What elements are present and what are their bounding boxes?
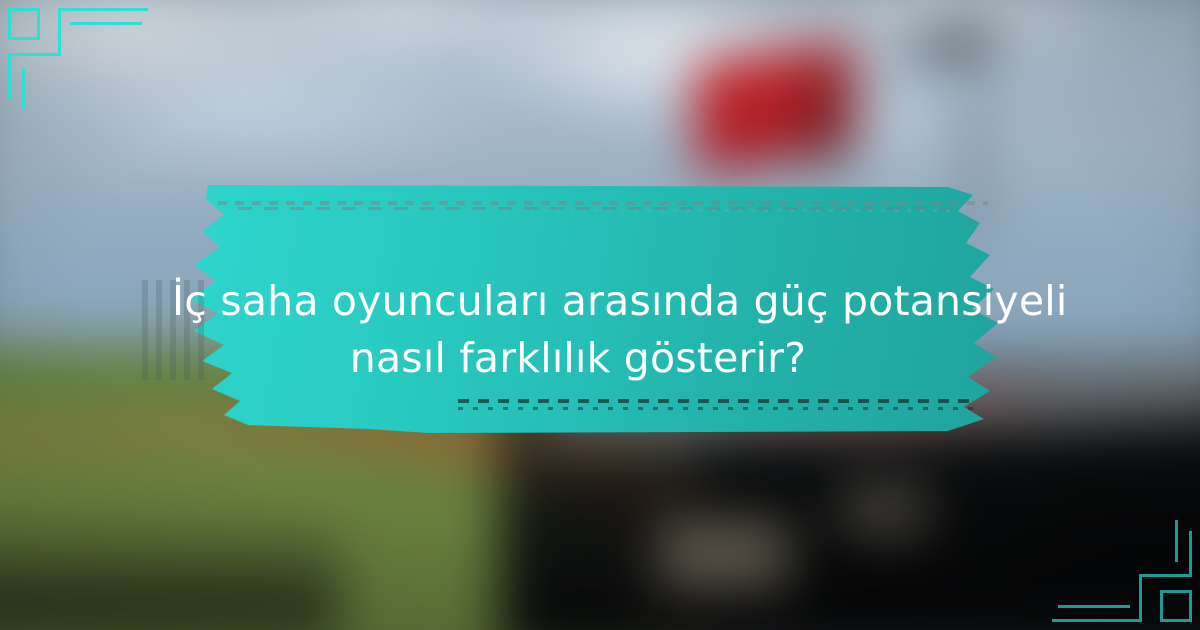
headline-line-1: İç saha oyuncuları arasında güç potansiy… [172, 273, 984, 330]
headline-line-2: nasıl farklılık gösterir? [172, 330, 984, 387]
social-card-canvas: İç saha oyuncuları arasında güç potansiy… [0, 0, 1200, 630]
headline-banner: İç saha oyuncuları arasında güç potansiy… [128, 185, 1028, 435]
headline-text: İç saha oyuncuları arasında güç potansiy… [128, 273, 1028, 387]
